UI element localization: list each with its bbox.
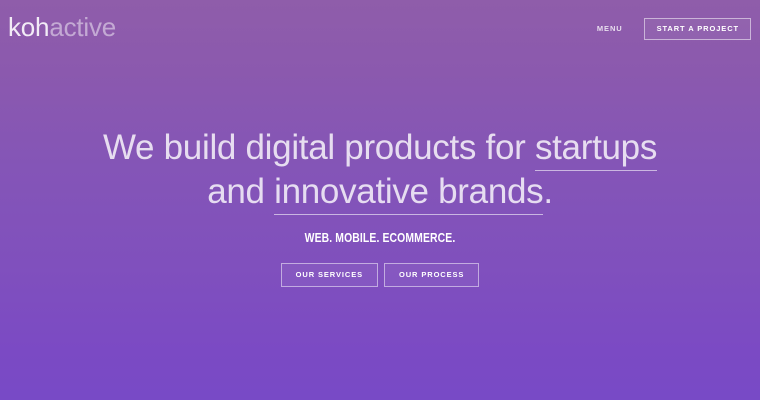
site-logo[interactable]: kohactive [8,14,116,40]
hero-headline: We build digital products for startups a… [80,126,680,214]
menu-button[interactable]: MENU [596,22,624,35]
site-header: kohactive MENU START A PROJECT [0,0,760,56]
headline-link-startups[interactable]: startups [535,128,657,171]
headline-segment-5: . [543,172,552,211]
header-nav: MENU START A PROJECT [596,14,751,40]
headline-link-innovative-brands[interactable]: innovative brands [274,172,543,215]
start-a-project-button[interactable]: START A PROJECT [644,18,751,40]
logo-text-secondary: active [49,12,116,42]
our-process-button[interactable]: OUR PROCESS [384,263,479,287]
hero-tagline: WEB. MOBILE. ECOMMERCE. [108,231,652,245]
hero-content: We build digital products for startups a… [0,126,760,287]
headline-segment-3: and [207,172,274,211]
hero-cta-row: OUR SERVICES OUR PROCESS [40,263,720,287]
hero-section: kohactive MENU START A PROJECT We build … [0,0,760,400]
our-services-button[interactable]: OUR SERVICES [281,263,378,287]
logo-text-primary: koh [8,12,49,42]
headline-segment-1: We build digital products for [103,128,535,167]
